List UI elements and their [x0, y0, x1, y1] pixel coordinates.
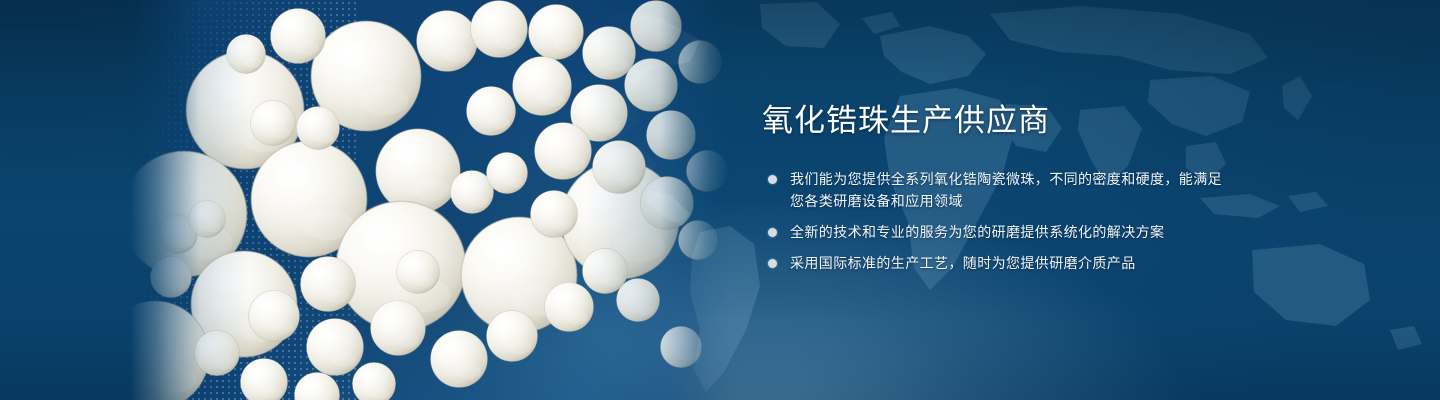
- list-item-text: 全新的技术和专业的服务为您的研磨提供系统化的解决方案: [790, 224, 1164, 240]
- page-title: 氧化锆珠生产供应商: [762, 104, 1232, 138]
- list-item-text: 我们能为您提供全系列氧化锆陶瓷微珠，不同的密度和硬度，能满足您各类研磨设备和应用…: [790, 171, 1222, 209]
- banner-copy: 氧化锆珠生产供应商 我们能为您提供全系列氧化锆陶瓷微珠，不同的密度和硬度，能满足…: [762, 104, 1232, 274]
- zirconia-beads-photo: [130, 0, 730, 400]
- list-item: 我们能为您提供全系列氧化锆陶瓷微珠，不同的密度和硬度，能满足您各类研磨设备和应用…: [762, 168, 1232, 212]
- bullet-dot-icon: [768, 259, 777, 268]
- bullet-dot-icon: [768, 175, 777, 184]
- list-item: 全新的技术和专业的服务为您的研磨提供系统化的解决方案: [762, 221, 1232, 243]
- beads-illustration: [130, 0, 730, 400]
- list-item: 采用国际标准的生产工艺，随时为您提供研磨介质产品: [762, 252, 1232, 274]
- hero-banner: 氧化锆珠生产供应商 我们能为您提供全系列氧化锆陶瓷微珠，不同的密度和硬度，能满足…: [0, 0, 1440, 400]
- feature-list: 我们能为您提供全系列氧化锆陶瓷微珠，不同的密度和硬度，能满足您各类研磨设备和应用…: [762, 168, 1232, 274]
- bullet-dot-icon: [768, 228, 777, 237]
- list-item-text: 采用国际标准的生产工艺，随时为您提供研磨介质产品: [790, 255, 1136, 271]
